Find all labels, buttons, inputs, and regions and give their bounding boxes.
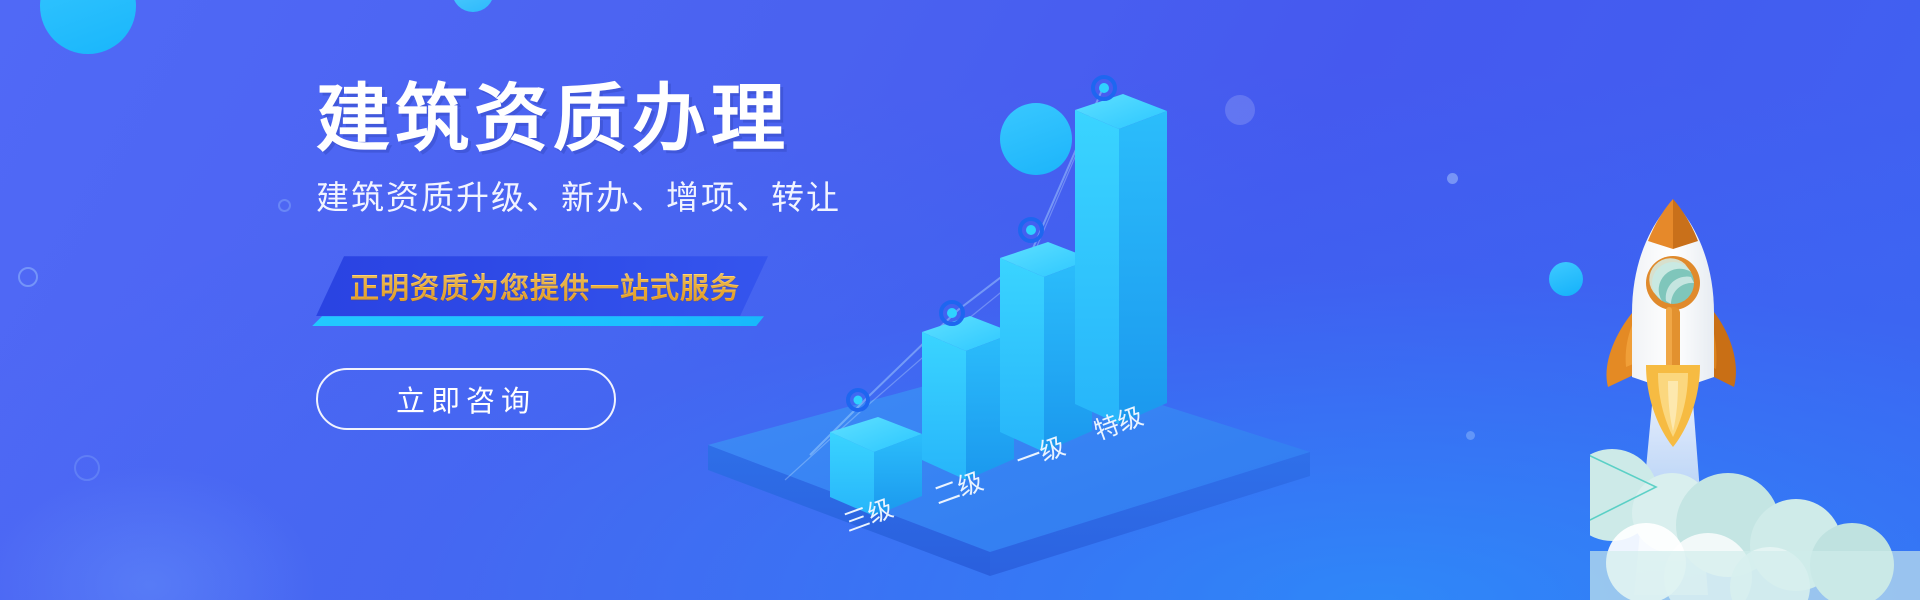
isometric-bar-chart: 三级 二级 一级 特级 xyxy=(690,60,1310,600)
hero-banner: 建筑资质办理 建筑资质升级、新办、增项、转让 正明资质为您提供一站式服务 立即咨… xyxy=(0,0,1920,600)
rocket-icon xyxy=(1590,195,1920,600)
consult-now-button-label: 立即咨询 xyxy=(396,378,536,420)
rocket-nose-left xyxy=(1648,199,1673,249)
decorative-circle-icon xyxy=(40,0,136,54)
decorative-circle-icon xyxy=(452,0,494,12)
cloud-icon xyxy=(1590,449,1920,600)
background-glow xyxy=(0,420,380,600)
rocket-nose-right xyxy=(1673,199,1698,249)
decorative-dot-icon xyxy=(1466,431,1475,440)
chart-bar xyxy=(1075,94,1167,424)
decorative-ring-icon xyxy=(74,455,100,481)
consult-now-button[interactable]: 立即咨询 xyxy=(316,368,616,430)
decorative-ring-icon xyxy=(278,199,291,212)
decorative-circle-icon xyxy=(1549,262,1583,296)
decorative-ring-icon xyxy=(18,267,38,287)
badge-label: 正明资质为您提供一站式服务 xyxy=(344,265,740,307)
decorative-dot-icon xyxy=(1447,173,1458,184)
